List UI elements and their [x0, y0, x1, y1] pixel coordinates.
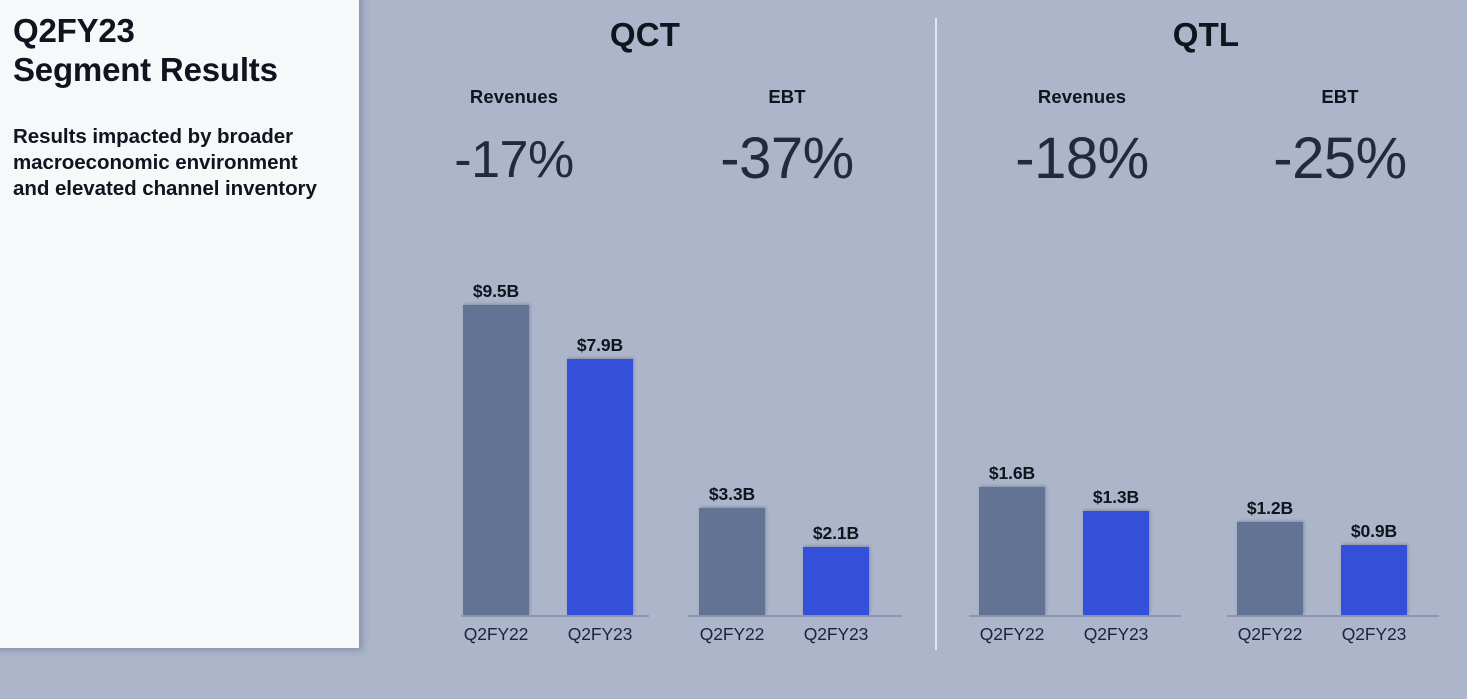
metric-qct-ebt: EBT -37% $3.3B $2.1B Q2FY22 Q2FY23: [662, 0, 912, 660]
bar-value-q2fy22: $1.6B: [957, 463, 1067, 484]
bar-q2fy22: [979, 487, 1045, 615]
metric-qtl-revenues: Revenues -18% $1.6B $1.3B Q2FY22 Q2FY23: [957, 0, 1207, 660]
summary-panel: Q2FY23 Segment Results Results impacted …: [0, 0, 359, 648]
axis-line: [1227, 615, 1439, 617]
bar-value-q2fy23: $7.9B: [545, 335, 655, 356]
bar-chart-qtl-revenues: $1.6B $1.3B Q2FY22 Q2FY23: [957, 0, 1207, 660]
bar-q2fy22: [463, 305, 529, 615]
metric-qtl-ebt: EBT -25% $1.2B $0.9B Q2FY22 Q2FY23: [1215, 0, 1465, 660]
bar-chart-qct-ebt: $3.3B $2.1B Q2FY22 Q2FY23: [662, 0, 912, 660]
axis-line: [969, 615, 1181, 617]
bar-value-q2fy23: $0.9B: [1319, 521, 1429, 542]
bar-value-q2fy23: $2.1B: [781, 523, 891, 544]
segment-qct: QCT Revenues -17% $9.5B $7.9B Q2FY22 Q2F…: [359, 0, 935, 660]
bar-q2fy22: [1237, 522, 1303, 615]
bar-value-q2fy23: $1.3B: [1061, 487, 1171, 508]
metric-qct-revenues: Revenues -17% $9.5B $7.9B Q2FY22 Q2FY23: [389, 0, 639, 660]
bar-value-q2fy22: $1.2B: [1215, 498, 1325, 519]
bar-q2fy23: [803, 547, 869, 615]
bar-q2fy23: [1083, 511, 1149, 615]
tick-label-q2fy22: Q2FY22: [957, 624, 1067, 645]
tick-label-q2fy23: Q2FY23: [545, 624, 655, 645]
bar-value-q2fy22: $9.5B: [441, 281, 551, 302]
tick-label-q2fy22: Q2FY22: [677, 624, 787, 645]
tick-label-q2fy23: Q2FY23: [1061, 624, 1171, 645]
tick-label-q2fy22: Q2FY22: [441, 624, 551, 645]
tick-label-q2fy23: Q2FY23: [1319, 624, 1429, 645]
segment-qtl: QTL Revenues -18% $1.6B $1.3B Q2FY22 Q2F…: [935, 0, 1467, 660]
tick-label-q2fy22: Q2FY22: [1215, 624, 1325, 645]
tick-label-q2fy23: Q2FY23: [781, 624, 891, 645]
charts-container: QCT Revenues -17% $9.5B $7.9B Q2FY22 Q2F…: [359, 0, 1467, 699]
page-title: Q2FY23 Segment Results: [13, 12, 337, 90]
bar-chart-qtl-ebt: $1.2B $0.9B Q2FY22 Q2FY23: [1215, 0, 1465, 660]
axis-line: [461, 615, 649, 617]
slide-canvas: Q2FY23 Segment Results Results impacted …: [0, 0, 1467, 699]
bar-value-q2fy22: $3.3B: [677, 484, 787, 505]
bar-chart-qct-revenues: $9.5B $7.9B Q2FY22 Q2FY23: [389, 0, 639, 660]
bar-q2fy23: [567, 359, 633, 615]
bar-q2fy23: [1341, 545, 1407, 615]
bar-q2fy22: [699, 508, 765, 615]
panel-description: Results impacted by broader macroeconomi…: [13, 124, 318, 203]
axis-line: [688, 615, 902, 617]
